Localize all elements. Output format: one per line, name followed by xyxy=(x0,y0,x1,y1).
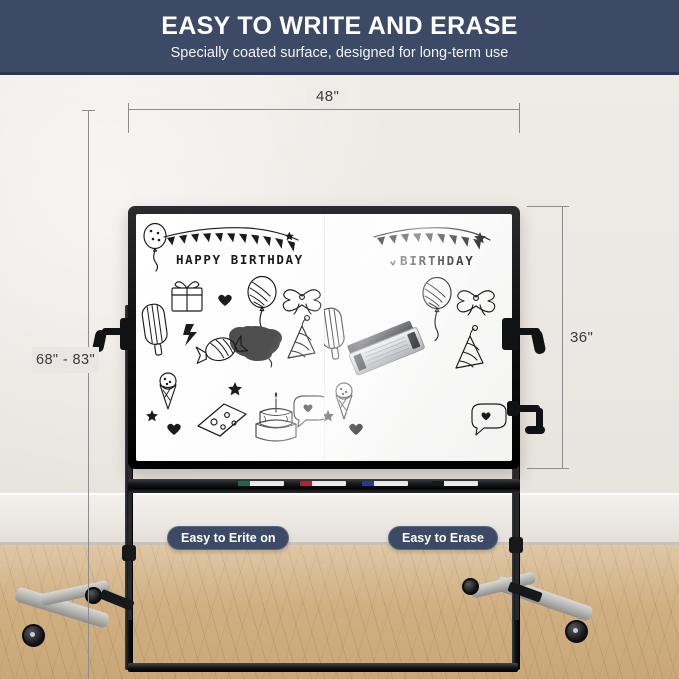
dim-cap-stand-top xyxy=(82,110,95,111)
dim-line-width xyxy=(128,109,520,110)
board-panel-right: BIRTHDAY xyxy=(324,214,512,461)
dim-label-height: 36" xyxy=(570,329,593,346)
product-infographic: EASY TO WRITE AND ERASE Specially coated… xyxy=(0,0,679,679)
height-lock-collar-right[interactable] xyxy=(509,537,523,553)
baseboard xyxy=(0,493,679,545)
marker-green[interactable] xyxy=(238,481,284,486)
badge-easy-to-erase-label: Easy to Erase xyxy=(402,531,484,545)
header-subtitle: Specially coated surface, designed for l… xyxy=(171,46,509,61)
height-lock-collar-left[interactable] xyxy=(122,545,136,561)
doodle-group-left: HAPPY BIRTHDAY xyxy=(136,214,324,461)
crank-hub xyxy=(507,401,519,416)
dim-label-width: 48" xyxy=(307,88,348,105)
dim-ext-height-top xyxy=(527,206,563,207)
product-scene: HAPPY BIRTHDAY xyxy=(0,75,679,679)
header-title: EASY TO WRITE AND ERASE xyxy=(161,14,518,39)
dim-ext-width-right xyxy=(519,109,520,133)
caster-wheel-rear-right xyxy=(462,578,479,595)
dim-line-height xyxy=(562,206,563,469)
badge-easy-to-write-label: Easy to Erite on xyxy=(181,531,275,545)
marker-black[interactable] xyxy=(432,481,478,486)
svg-text:HAPPY BIRTHDAY: HAPPY BIRTHDAY xyxy=(176,252,304,267)
marker-red[interactable] xyxy=(300,481,346,486)
marker-blue[interactable] xyxy=(362,481,408,486)
marker-tray-lip xyxy=(128,489,520,493)
dim-ext-width-left xyxy=(128,109,129,133)
badge-easy-to-write: Easy to Erite on xyxy=(167,526,289,550)
board-panel-left: HAPPY BIRTHDAY xyxy=(136,214,324,461)
caster-wheel-front-left xyxy=(22,624,45,647)
badge-easy-to-erase: Easy to Erase xyxy=(388,526,498,550)
svg-text:BIRTHDAY: BIRTHDAY xyxy=(400,253,475,268)
stand-bottom-rail xyxy=(128,663,518,672)
crank-handle[interactable] xyxy=(525,426,545,434)
dim-ext-height-bottom xyxy=(527,468,563,469)
caster-hub xyxy=(30,632,35,637)
dim-label-stand: 68" - 83" xyxy=(32,347,99,373)
whiteboard-surface[interactable]: HAPPY BIRTHDAY xyxy=(136,214,512,461)
caster-wheel-front-right xyxy=(565,620,588,643)
caster-hub xyxy=(573,628,578,633)
dim-line-stand xyxy=(88,110,89,679)
header-banner: EASY TO WRITE AND ERASE Specially coated… xyxy=(0,0,679,75)
